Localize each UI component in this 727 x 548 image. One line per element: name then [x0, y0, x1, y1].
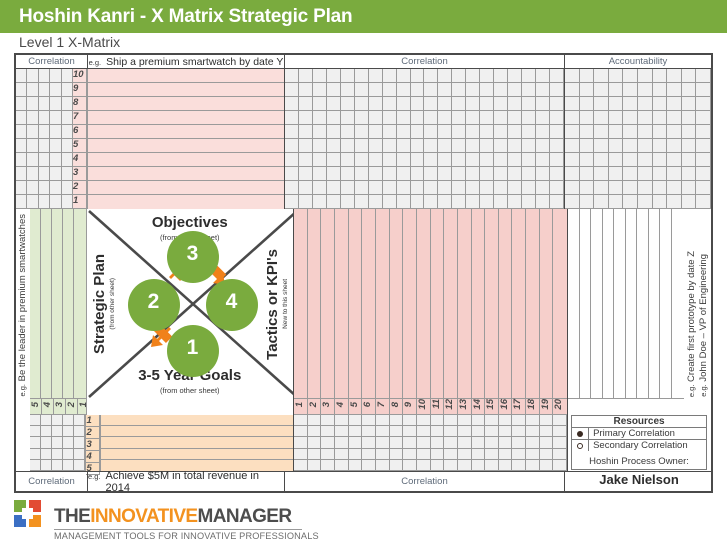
- resources-heading: Resources: [572, 416, 706, 428]
- accountability-number-spacer: [568, 399, 711, 415]
- tactics-number: 13: [458, 399, 469, 410]
- strategic-plan-number: 3: [54, 402, 65, 407]
- goals-entry-area[interactable]: [101, 415, 294, 471]
- x-center-number-spacer: [87, 399, 295, 415]
- process-owner-label: Hoshin Process Owner:: [572, 451, 706, 467]
- objective-number: 5: [73, 139, 87, 153]
- bottom-goals-text: Achieve $5M in total revenue in 2014: [106, 470, 284, 494]
- tactics-number-row: 1 2 3 4 5 6 7 8 9 10 11 12 13 14 15 16 1: [294, 399, 568, 415]
- objective-number: 10: [73, 69, 87, 83]
- goals-tactics-correlation-grid[interactable]: [294, 415, 568, 471]
- logo-wordmark: THEINNOVATIVEMANAGER: [54, 506, 291, 528]
- logo-word-manager: MANAGER: [198, 506, 292, 527]
- objectives-accountability-grid[interactable]: [565, 69, 711, 209]
- objective-number: 6: [73, 125, 87, 139]
- accountability-entry-area[interactable]: [568, 209, 684, 399]
- strategic-plan-example-label: e.g. Be the leader in premium smartwatch…: [16, 209, 30, 399]
- bottom-right-blank: [565, 472, 711, 491]
- goal-number: 1: [86, 415, 100, 427]
- top-label-strip: Correlation e.g. Ship a premium smartwat…: [16, 55, 711, 69]
- strategic-plan-eg-text: Be the leader in premium smartwatches: [17, 214, 28, 381]
- tactics-number: 11: [431, 399, 442, 409]
- center-band: e.g. Be the leader in premium smartwatch…: [16, 209, 711, 399]
- accountability-eg-text: John Doe – VP of Engineering: [698, 254, 709, 382]
- logo-mark-icon: [14, 500, 48, 534]
- logo-divider: [54, 529, 302, 530]
- tactics-number: 12: [444, 399, 455, 410]
- objective-number: 3: [73, 167, 87, 181]
- top-objectives-eg: e.g.: [89, 58, 102, 67]
- top-center-correlation-label: Correlation: [285, 55, 565, 68]
- legend-primary-correlation: Primary Correlation: [572, 428, 706, 440]
- legend-secondary-correlation: Secondary Correlation: [572, 440, 706, 451]
- bottom-correlation-label: Correlation: [16, 472, 88, 491]
- tactics-number: 14: [472, 399, 483, 410]
- tactics-number: 7: [376, 402, 387, 407]
- objectives-left-correlation-grid[interactable]: [16, 69, 73, 209]
- tactics-number: 6: [362, 402, 373, 407]
- bottom-goals-example: e.g. Achieve $5M in total revenue in 201…: [88, 472, 285, 491]
- strategic-plan-number: 2: [66, 402, 77, 407]
- goals-strategic-correlation-grid[interactable]: [30, 415, 87, 471]
- tactics-number: 18: [526, 399, 537, 410]
- tactics-number: 16: [499, 399, 510, 410]
- page-title: Hoshin Kanri - X Matrix Strategic Plan: [19, 6, 352, 28]
- strategic-plan-number: 5: [30, 402, 41, 407]
- page-subtitle: Level 1 X-Matrix: [19, 34, 120, 50]
- bottom-goals-eg: e.g.: [88, 472, 101, 481]
- tactics-number: 15: [485, 399, 496, 410]
- legend-secondary-label: Secondary Correlation: [589, 440, 688, 451]
- tactics-eg-text: Create first prototype by date Z: [686, 251, 697, 382]
- goals-band: 1 2 3 4 5: [16, 415, 711, 471]
- tactics-number: 20: [553, 399, 564, 410]
- goal-number: 3: [86, 439, 100, 451]
- logo-word-the: THE: [54, 506, 90, 527]
- cycle-node-1-label: 1: [179, 336, 207, 360]
- tactics-number: 1: [294, 402, 305, 407]
- app-title-bar: Hoshin Kanri - X Matrix Strategic Plan: [0, 0, 727, 33]
- x-matrix-grid: Correlation e.g. Ship a premium smartwat…: [14, 53, 713, 493]
- x-matrix-page: Hoshin Kanri - X Matrix Strategic Plan L…: [0, 0, 727, 548]
- accountability-eg: e.g.: [699, 384, 708, 397]
- top-correlation-label: Correlation: [16, 55, 88, 68]
- accountability-example-label: e.g. John Doe – VP of Engineering: [698, 254, 709, 397]
- open-dot-icon: [572, 440, 589, 451]
- cycle-node-2-label: 2: [140, 290, 168, 314]
- objectives-number-column: 10 9 8 7 6 5 4 3 2 1: [73, 69, 88, 209]
- goal-number: 2: [86, 427, 100, 439]
- tactics-number: 9: [403, 402, 414, 407]
- tactics-example-label: e.g. Create first prototype by date Z: [686, 251, 697, 397]
- goal-number: 4: [86, 451, 100, 463]
- objectives-band: 10 9 8 7 6 5 4 3 2 1: [16, 69, 711, 209]
- tactics-number: 10: [417, 399, 428, 410]
- logo-tagline: MANAGEMENT TOOLS FOR INNOVATIVE PROFESSI…: [54, 531, 319, 541]
- goals-number-column: 1 2 3 4 5: [86, 415, 101, 471]
- top-objectives-text: Ship a premium smartwatch by date Y: [106, 56, 283, 68]
- cycle-diagram: [87, 209, 295, 399]
- tactics-eg: e.g.: [687, 384, 696, 397]
- top-objectives-example: e.g. Ship a premium smartwatch by date Y: [88, 55, 285, 68]
- tactics-number: 17: [512, 399, 523, 410]
- objective-number: 2: [73, 181, 87, 195]
- accountability-label: Accountability: [565, 55, 711, 68]
- logo-word-innovative: INNOVATIVE: [90, 506, 197, 527]
- objectives-entry-area[interactable]: [88, 69, 285, 209]
- tactics-number: 5: [349, 402, 360, 407]
- tactics-number: 19: [540, 399, 551, 410]
- tactics-number: 4: [335, 402, 346, 407]
- objective-number: 7: [73, 111, 87, 125]
- bottom-center-correlation-label: Correlation: [285, 472, 565, 491]
- tactics-number: 3: [321, 402, 332, 407]
- cycle-node-3-label: 3: [179, 242, 207, 266]
- strategic-plan-number-row: 5 4 3 2 1: [30, 399, 87, 415]
- strategic-plan-eg: e.g.: [18, 384, 27, 397]
- tactics-number: 8: [390, 402, 401, 407]
- tactics-entry-area[interactable]: [294, 209, 568, 399]
- cycle-node-4-label: 4: [218, 290, 246, 314]
- legend-primary-label: Primary Correlation: [589, 428, 675, 439]
- tactics-number: 2: [308, 402, 319, 407]
- strategic-plan-number: 4: [42, 402, 53, 407]
- strategic-plan-entry-area[interactable]: [30, 209, 87, 399]
- number-strip: 5 4 3 2 1 1 2 3 4 5 6 7 8 9: [16, 399, 711, 415]
- bottom-label-strip: Correlation e.g. Achieve $5M in total re…: [16, 471, 711, 491]
- objective-number: 4: [73, 153, 87, 167]
- objective-number: 1: [73, 195, 87, 209]
- objective-number: 8: [73, 97, 87, 111]
- filled-dot-icon: [572, 428, 589, 439]
- right-example-labels: e.g. Create first prototype by date Z e.…: [684, 209, 711, 399]
- resources-panel: Resources Primary Correlation Secondary …: [568, 415, 711, 471]
- x-matrix-center: Objectives (from other sheet) 3-5 Year G…: [87, 209, 295, 399]
- objective-number: 9: [73, 83, 87, 97]
- objectives-tactics-correlation-grid[interactable]: [285, 69, 565, 209]
